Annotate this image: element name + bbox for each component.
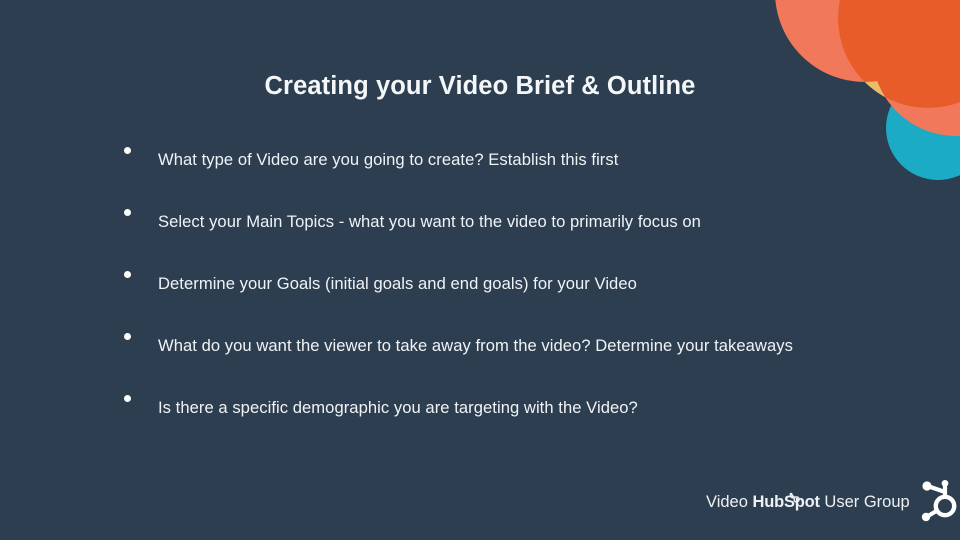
bullet-dot-icon [124, 147, 131, 154]
hubspot-sprocket-small-icon [788, 492, 800, 504]
list-item: What type of Video are you going to crea… [120, 136, 844, 184]
list-item: Determine your Goals (initial goals and … [120, 260, 844, 308]
hubspot-sprocket-icon [918, 480, 960, 524]
bullet-dot-icon [124, 395, 131, 402]
footer-brand: Video HubSpot User Group [706, 485, 960, 519]
slide-canvas: Creating your Video Brief & Outline What… [0, 0, 960, 540]
bullet-dot-icon [124, 333, 131, 340]
list-item: Select your Main Topics - what you want … [120, 198, 844, 246]
bullet-dot-icon [124, 271, 131, 278]
list-item-label: Determine your Goals (initial goals and … [158, 260, 844, 308]
footer-suffix-label: User Group [820, 493, 910, 512]
list-item-label: What type of Video are you going to crea… [158, 136, 844, 184]
coral-circle-right [872, 0, 960, 136]
list-item-label: Is there a specific demographic you are … [158, 384, 844, 432]
list-item: Is there a specific demographic you are … [120, 384, 844, 432]
bullet-dot-icon [124, 209, 131, 216]
footer-prefix-label: Video [706, 493, 753, 512]
page-title: Creating your Video Brief & Outline [0, 72, 960, 101]
bullet-list: What type of Video are you going to crea… [120, 136, 844, 446]
hubspot-brand-label: HubSpot [753, 493, 820, 511]
list-item-label: Select your Main Topics - what you want … [158, 198, 844, 246]
list-item-label: What do you want the viewer to take away… [158, 322, 844, 370]
hubspot-wordmark: HubSpot [753, 493, 820, 512]
list-item: What do you want the viewer to take away… [120, 322, 844, 370]
coral-circle [775, 0, 955, 82]
